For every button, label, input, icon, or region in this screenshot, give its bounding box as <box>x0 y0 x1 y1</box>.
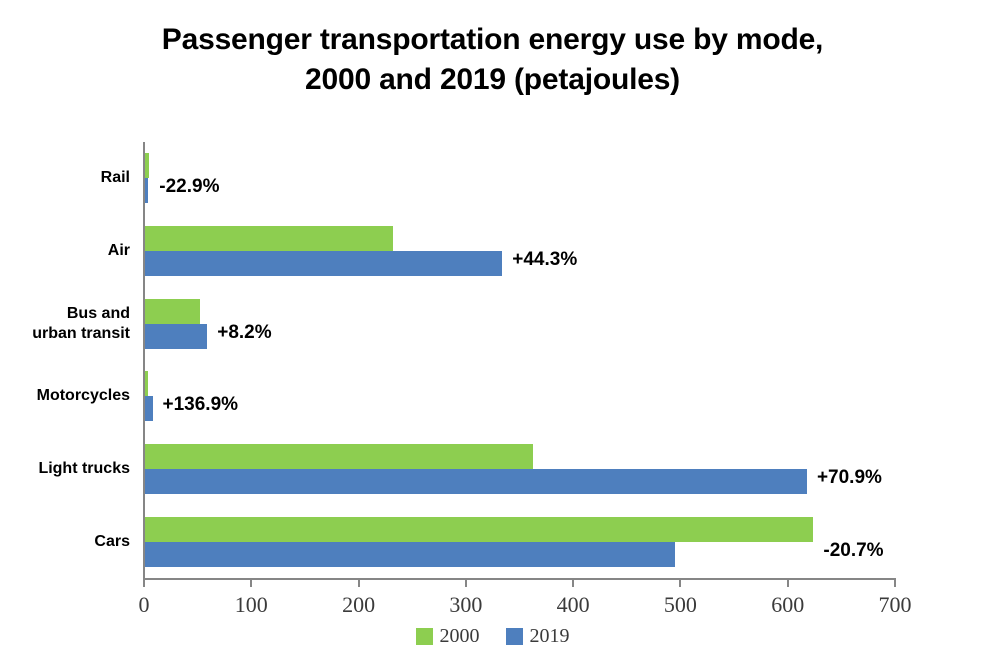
value-axis-line <box>143 142 145 578</box>
chart-title: Passenger transportation energy use by m… <box>0 20 985 100</box>
bar-2019[interactable] <box>145 251 502 276</box>
legend-label-2000: 2000 <box>440 626 480 646</box>
category-label-line: Bus and <box>0 304 130 324</box>
x-tick-400 <box>572 578 574 587</box>
bar-2000[interactable] <box>145 517 813 542</box>
x-tick-600 <box>787 578 789 587</box>
legend-item-2019[interactable]: 2019 <box>506 626 570 646</box>
bar-2000[interactable] <box>145 299 200 324</box>
change-annotation-cars: -20.7% <box>823 540 883 562</box>
change-annotation-motorcycles: +136.9% <box>163 394 239 416</box>
change-annotation-bus-and-urban-transit: +8.2% <box>217 322 271 344</box>
category-label-bus-and-urban-transit: Bus andurban transit <box>0 304 130 344</box>
bar-2019[interactable] <box>145 324 207 349</box>
chart-title-line-1: Passenger transportation energy use by m… <box>162 23 823 56</box>
category-label-line: Cars <box>0 532 130 552</box>
x-tick-700 <box>894 578 896 587</box>
chart-title-line-2: 2000 and 2019 (petajoules) <box>0 60 985 100</box>
category-axis-line <box>143 578 896 580</box>
category-label-air: Air <box>0 241 130 261</box>
x-tick-label-0: 0 <box>104 592 184 618</box>
category-label-cars: Cars <box>0 532 130 552</box>
change-annotation-rail: -22.9% <box>159 176 219 198</box>
x-tick-300 <box>465 578 467 587</box>
category-label-light-trucks: Light trucks <box>0 459 130 479</box>
bar-2000[interactable] <box>145 444 533 469</box>
legend-swatch-2000 <box>416 628 433 645</box>
chart-legend: 2000 2019 <box>0 626 985 646</box>
x-tick-100 <box>250 578 252 587</box>
x-tick-label-700: 700 <box>855 592 935 618</box>
plot-area: 0100200300400500600700 <box>143 142 894 578</box>
bar-2000[interactable] <box>145 153 149 178</box>
legend-label-2019: 2019 <box>530 626 570 646</box>
x-tick-500 <box>679 578 681 587</box>
bar-2019[interactable] <box>145 396 153 421</box>
category-label-line: Rail <box>0 168 130 188</box>
x-tick-0 <box>143 578 145 587</box>
bar-2000[interactable] <box>145 371 148 396</box>
category-label-line: Motorcycles <box>0 386 130 406</box>
bar-group <box>145 371 896 421</box>
category-label-line: urban transit <box>0 324 130 344</box>
change-annotation-light-trucks: +70.9% <box>817 467 882 489</box>
bar-group <box>145 444 896 494</box>
bar-2019[interactable] <box>145 542 675 567</box>
x-tick-label-400: 400 <box>533 592 613 618</box>
x-tick-label-200: 200 <box>319 592 399 618</box>
bar-2000[interactable] <box>145 226 393 251</box>
category-label-line: Light trucks <box>0 459 130 479</box>
bar-2019[interactable] <box>145 469 807 494</box>
x-tick-200 <box>358 578 360 587</box>
bar-2019[interactable] <box>145 178 148 203</box>
bar-chart: Passenger transportation energy use by m… <box>0 0 985 656</box>
legend-swatch-2019 <box>506 628 523 645</box>
bar-group <box>145 153 896 203</box>
x-tick-label-300: 300 <box>426 592 506 618</box>
change-annotation-air: +44.3% <box>512 249 577 271</box>
bar-group <box>145 517 896 567</box>
category-label-rail: Rail <box>0 168 130 188</box>
category-label-motorcycles: Motorcycles <box>0 386 130 406</box>
x-tick-label-100: 100 <box>211 592 291 618</box>
x-tick-label-500: 500 <box>640 592 720 618</box>
legend-item-2000[interactable]: 2000 <box>416 626 480 646</box>
x-tick-label-600: 600 <box>748 592 828 618</box>
category-label-line: Air <box>0 241 130 261</box>
